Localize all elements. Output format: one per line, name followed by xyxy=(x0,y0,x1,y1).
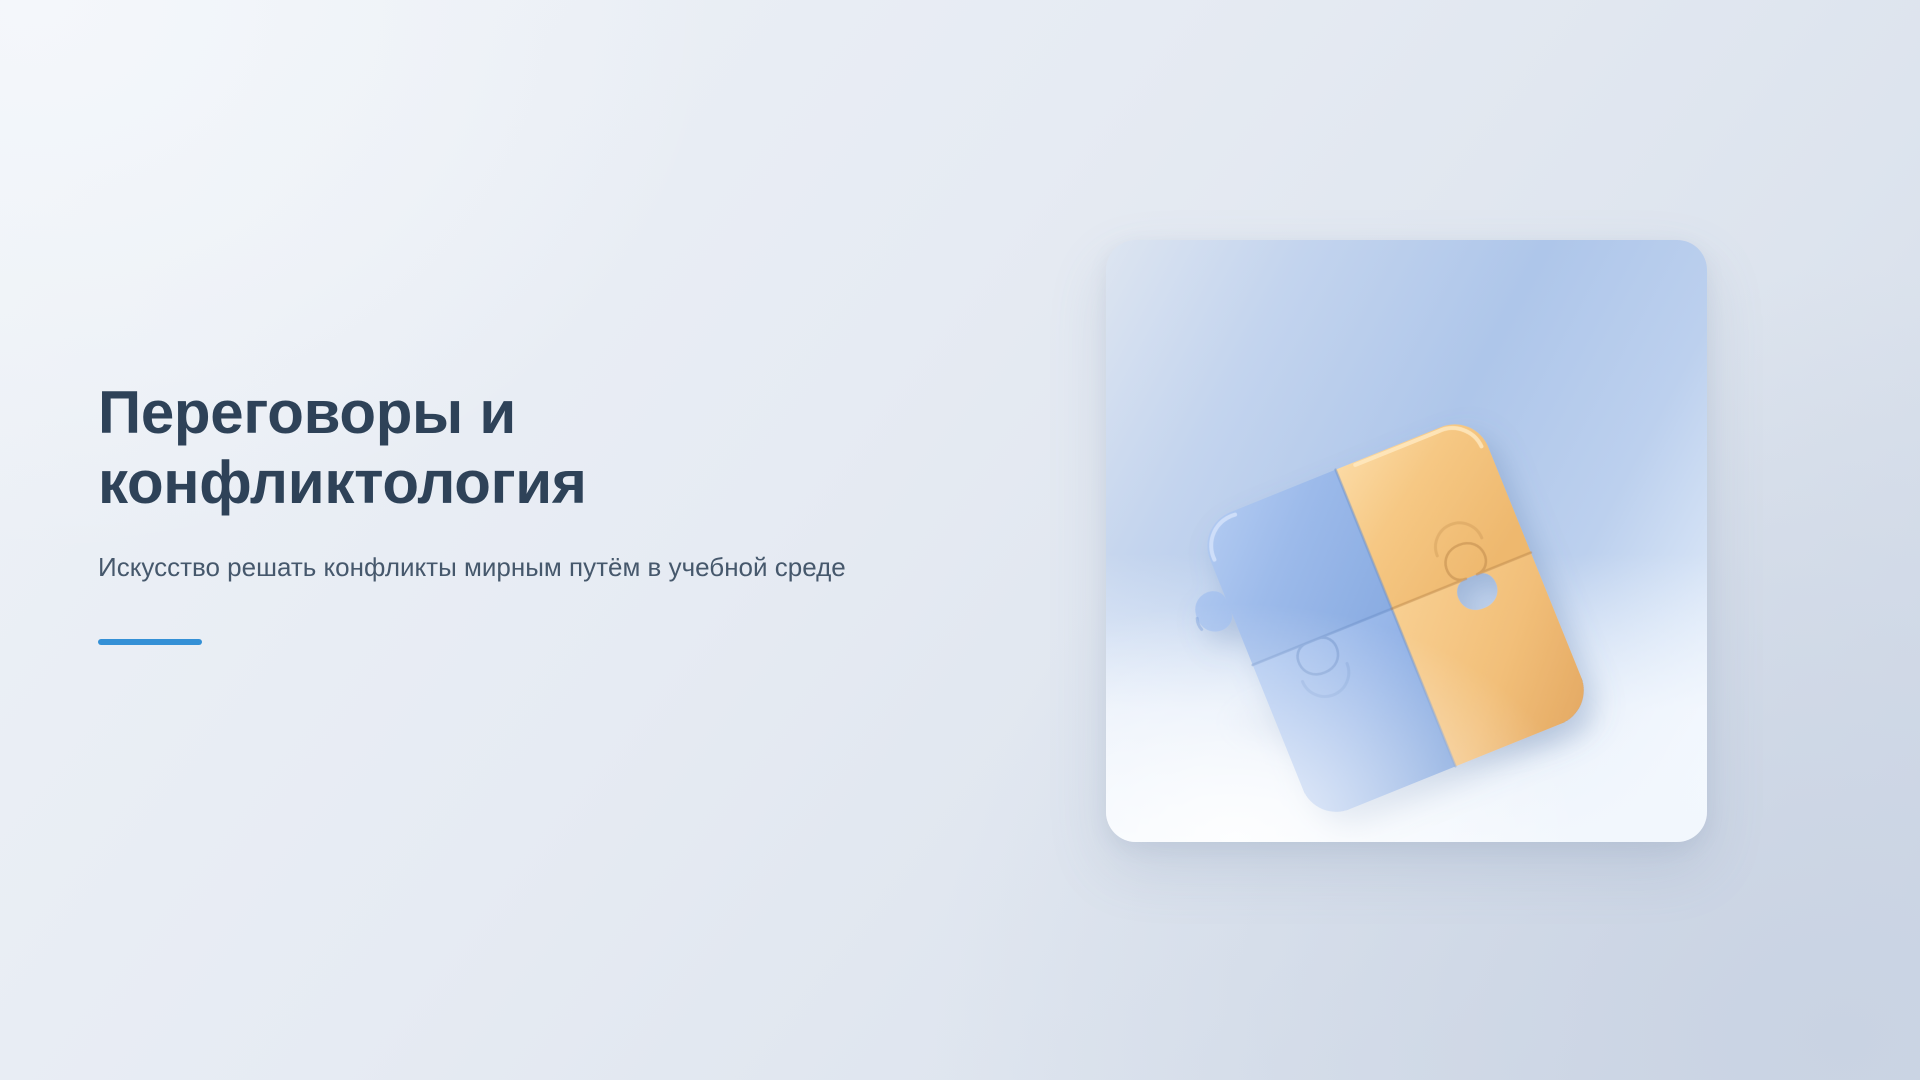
page-title: Переговоры и конфликтология xyxy=(98,378,738,517)
puzzle-illustration-card xyxy=(1106,240,1707,842)
jigsaw-puzzle-icon xyxy=(1106,240,1707,842)
puzzle-stage xyxy=(1106,240,1707,842)
page-subtitle: Искусство решать конфликты мирным путём … xyxy=(98,549,938,586)
accent-rule-divider xyxy=(98,639,202,645)
text-content-pane: Переговоры и конфликтология Искусство ре… xyxy=(98,378,978,645)
slide-root: Переговоры и конфликтология Искусство ре… xyxy=(0,0,1920,1080)
